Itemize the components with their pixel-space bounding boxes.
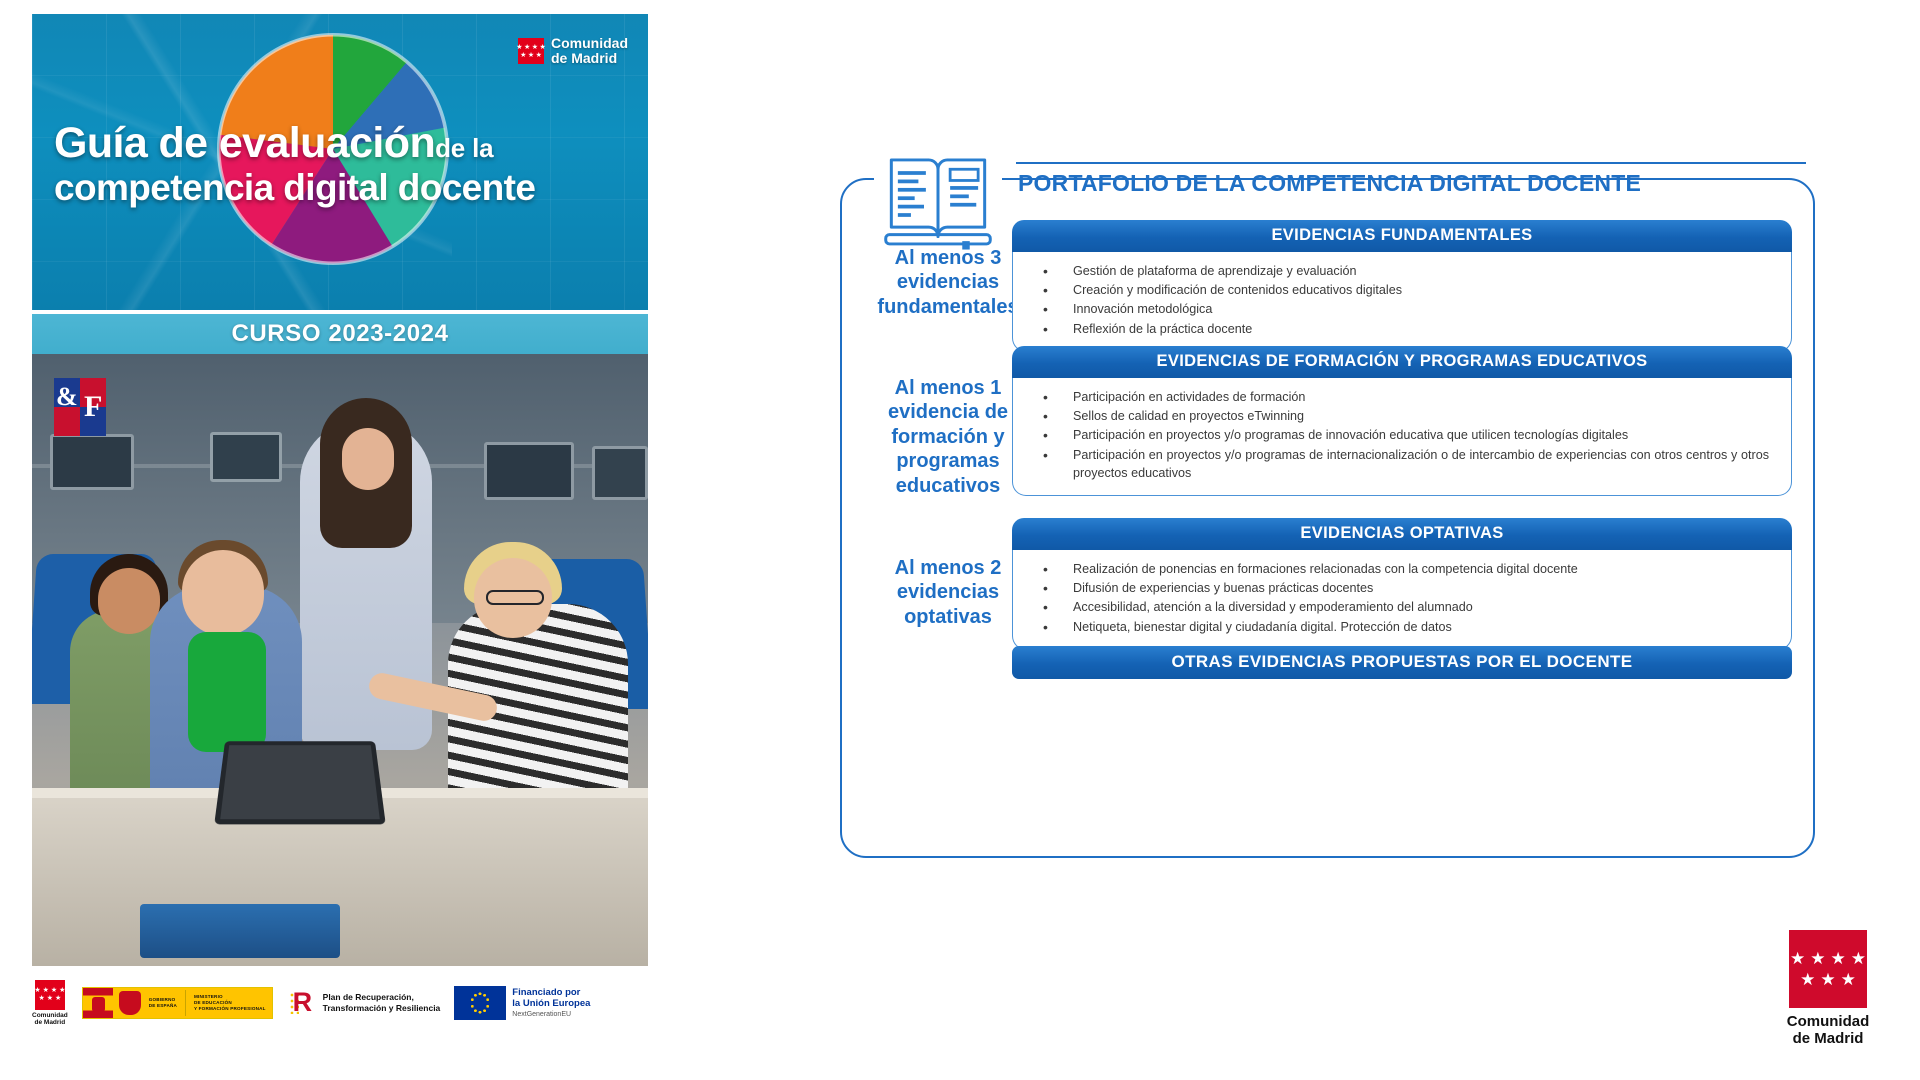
- book-cover: ★★★★ ★★★ Comunidad de Madrid Guía de eva…: [24, 6, 656, 991]
- cover-logo-line1: Comunidad: [551, 36, 628, 51]
- list-item: Reflexión de la práctica docente: [1035, 321, 1769, 339]
- list-item: Creación y modificación de contenidos ed…: [1035, 282, 1769, 300]
- list-item: Accesibilidad, atención a la diversidad …: [1035, 599, 1769, 617]
- eu-flag-icon: [454, 986, 506, 1020]
- list-item: Gestión de plataforma de aprendizaje y e…: [1035, 263, 1769, 281]
- footer-madrid-line1: Comunidad: [32, 1012, 68, 1019]
- cover-title-main: Guía de evaluación: [54, 119, 435, 167]
- cover-title-line-2: competencia digital docente: [54, 167, 535, 209]
- list-item: Participación en actividades de formació…: [1035, 389, 1769, 407]
- prtr-line2: Transformación y Resiliencia: [323, 1003, 441, 1014]
- br-logo-line1: Comunidad: [1787, 1013, 1870, 1030]
- cover-title-line-1: Guía de evaluaciónde la: [54, 119, 493, 168]
- footer-logo-comunidad-madrid: ★★★★ ★★★ Comunidad de Madrid: [32, 980, 68, 1027]
- list-item: Difusión de experiencias y buenas prácti…: [1035, 580, 1769, 598]
- side-label-formacion: Al menos 1 evidencia de formación y prog…: [858, 376, 1038, 498]
- eu-line1: Financiado por: [512, 987, 590, 999]
- spain-flag-icon: [83, 988, 113, 1018]
- madrid-flag-icon: ★★★★ ★★★: [1789, 930, 1867, 1008]
- block-evidencias-fundamentales: EVIDENCIAS FUNDAMENTALES Gestión de plat…: [1012, 220, 1792, 352]
- list-item: Participación en proyectos y/o programas…: [1035, 447, 1769, 483]
- footer-logo-union-europea: Financiado por la Unión Europea NextGene…: [454, 986, 590, 1020]
- crest-ampersand: &: [56, 382, 78, 412]
- block-body: Gestión de plataforma de aprendizaje y e…: [1012, 252, 1792, 352]
- madrid-flag-icon: ★★★★ ★★★: [35, 980, 65, 1010]
- side-label-fundamentales: Al menos 3 evidencias fundamentales: [858, 246, 1038, 319]
- bottom-right-madrid-logo: ★★★★ ★★★ Comunidad de Madrid: [1768, 930, 1888, 1050]
- footer-logo-gobierno-espana: GOBIERNO DE ESPAÑA MINISTERIO DE EDUCACI…: [82, 987, 273, 1019]
- list-item: Sellos de calidad en proyectos eTwinning: [1035, 408, 1769, 426]
- block-evidencias-optativas: EVIDENCIAS OPTATIVAS Realización de pone…: [1012, 518, 1792, 650]
- block-heading: EVIDENCIAS DE FORMACIÓN Y PROGRAMAS EDUC…: [1012, 346, 1792, 378]
- footer-logo-plan-recuperacion: R Plan de Recuperación, Transformación y…: [287, 987, 441, 1019]
- curso-label: CURSO 2023-2024: [231, 320, 448, 348]
- prtr-mark-icon: R: [287, 987, 317, 1019]
- list-item: Innovación metodológica: [1035, 301, 1769, 319]
- br-logo-line2: de Madrid: [1787, 1030, 1870, 1047]
- title-underline: [1016, 162, 1806, 164]
- min-line3: Y FORMACIÓN PROFESIONAL: [194, 1006, 266, 1012]
- spain-coat-of-arms-icon: [119, 991, 141, 1015]
- prtr-line1: Plan de Recuperación,: [323, 992, 441, 1003]
- side-label-optativas: Al menos 2 evidencias optativas: [858, 556, 1038, 629]
- block-evidencias-formacion: EVIDENCIAS DE FORMACIÓN Y PROGRAMAS EDUC…: [1012, 346, 1792, 496]
- eu-line3: NextGenerationEU: [512, 1011, 590, 1020]
- crest-letter: F: [84, 390, 102, 424]
- footer-madrid-line2: de Madrid: [32, 1019, 68, 1026]
- list-item: Netiqueta, bienestar digital y ciudadaní…: [1035, 619, 1769, 637]
- cover-madrid-logo: ★★★★ ★★★ Comunidad de Madrid: [518, 36, 628, 66]
- open-book-icon: [874, 146, 1002, 256]
- block-body: Participación en actividades de formació…: [1012, 378, 1792, 496]
- diagram-title: PORTAFOLIO DE LA COMPETENCIA DIGITAL DOC…: [1018, 170, 1718, 197]
- ef-crest-icon: & F: [54, 378, 106, 436]
- cover-photograph: [32, 354, 648, 966]
- cover-logo-line2: de Madrid: [551, 51, 628, 66]
- portafolio-diagram: PORTAFOLIO DE LA COMPETENCIA DIGITAL DOC…: [840, 168, 1815, 858]
- list-item: Realización de ponencias en formaciones …: [1035, 561, 1769, 579]
- curso-band: CURSO 2023-2024: [32, 314, 648, 354]
- gob-line2: DE ESPAÑA: [149, 1003, 177, 1009]
- otras-evidencias-bar: OTRAS EVIDENCIAS PROPUESTAS POR EL DOCEN…: [1012, 646, 1792, 679]
- list-item: Participación en proyectos y/o programas…: [1035, 427, 1769, 445]
- block-heading: EVIDENCIAS FUNDAMENTALES: [1012, 220, 1792, 252]
- block-heading: EVIDENCIAS OPTATIVAS: [1012, 518, 1792, 550]
- cover-footer-logos: ★★★★ ★★★ Comunidad de Madrid GOBIERNO DE…: [32, 972, 648, 1034]
- block-body: Realización de ponencias en formaciones …: [1012, 550, 1792, 650]
- cover-title-dela: de la: [435, 133, 493, 163]
- eu-line2: la Unión Europea: [512, 998, 590, 1010]
- madrid-flag-icon: ★★★★ ★★★: [518, 38, 544, 64]
